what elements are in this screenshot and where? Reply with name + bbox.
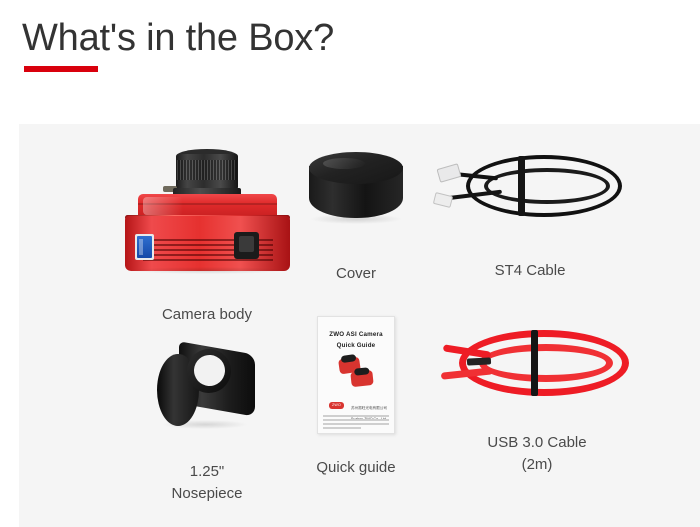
usb-cable-icon bbox=[439, 326, 635, 410]
st4-plug-upper bbox=[436, 163, 461, 183]
item-label-camera-body: Camera body bbox=[85, 304, 329, 326]
guide-title-line2: Quick Guide bbox=[317, 341, 395, 352]
item-camera-body[interactable]: Camera body bbox=[85, 148, 329, 326]
guide-title-line1: ZWO ASI Camera bbox=[317, 330, 395, 341]
nosepiece-icon bbox=[147, 338, 267, 438]
item-quick-guide[interactable]: ZWO ASI Camera Quick Guide ZWO 苏州振旺光电有限公… bbox=[313, 316, 399, 479]
item-nosepiece[interactable]: 1.25" Nosepiece bbox=[145, 338, 269, 505]
cover-icon bbox=[301, 150, 411, 234]
item-label-nosepiece: 1.25" Nosepiece bbox=[145, 461, 269, 505]
guide-camera-illustration bbox=[337, 358, 375, 388]
cable-tie bbox=[518, 156, 525, 216]
st4-cable-icon bbox=[432, 150, 628, 232]
page-title: What's in the Box? bbox=[22, 17, 334, 61]
quick-guide-icon: ZWO ASI Camera Quick Guide ZWO 苏州振旺光电有限公… bbox=[313, 316, 399, 436]
st4-plug-lower bbox=[433, 192, 453, 208]
cable-tie bbox=[531, 330, 538, 396]
usb-connector bbox=[467, 357, 491, 365]
whats-in-the-box-page: What's in the Box? Camer bbox=[0, 0, 700, 527]
item-usb-cable[interactable]: USB 3.0 Cable (2m) bbox=[439, 326, 635, 476]
zwo-logo-icon: ZWO bbox=[329, 402, 344, 409]
title-accent-underline bbox=[24, 66, 98, 72]
items-panel: Camera body Cover bbox=[19, 124, 700, 527]
item-label-st4-cable: ST4 Cable bbox=[432, 260, 628, 282]
item-cover[interactable]: Cover bbox=[301, 150, 411, 285]
item-label-quick-guide: Quick guide bbox=[313, 457, 399, 479]
item-label-usb-cable: USB 3.0 Cable (2m) bbox=[439, 432, 635, 476]
guide-fineprint bbox=[323, 415, 389, 431]
item-label-cover: Cover bbox=[301, 263, 411, 285]
guide-company-line1: 苏州振旺光电有限公司 bbox=[346, 406, 392, 412]
camera-body-icon bbox=[107, 148, 307, 273]
item-st4-cable[interactable]: ST4 Cable bbox=[432, 150, 628, 282]
